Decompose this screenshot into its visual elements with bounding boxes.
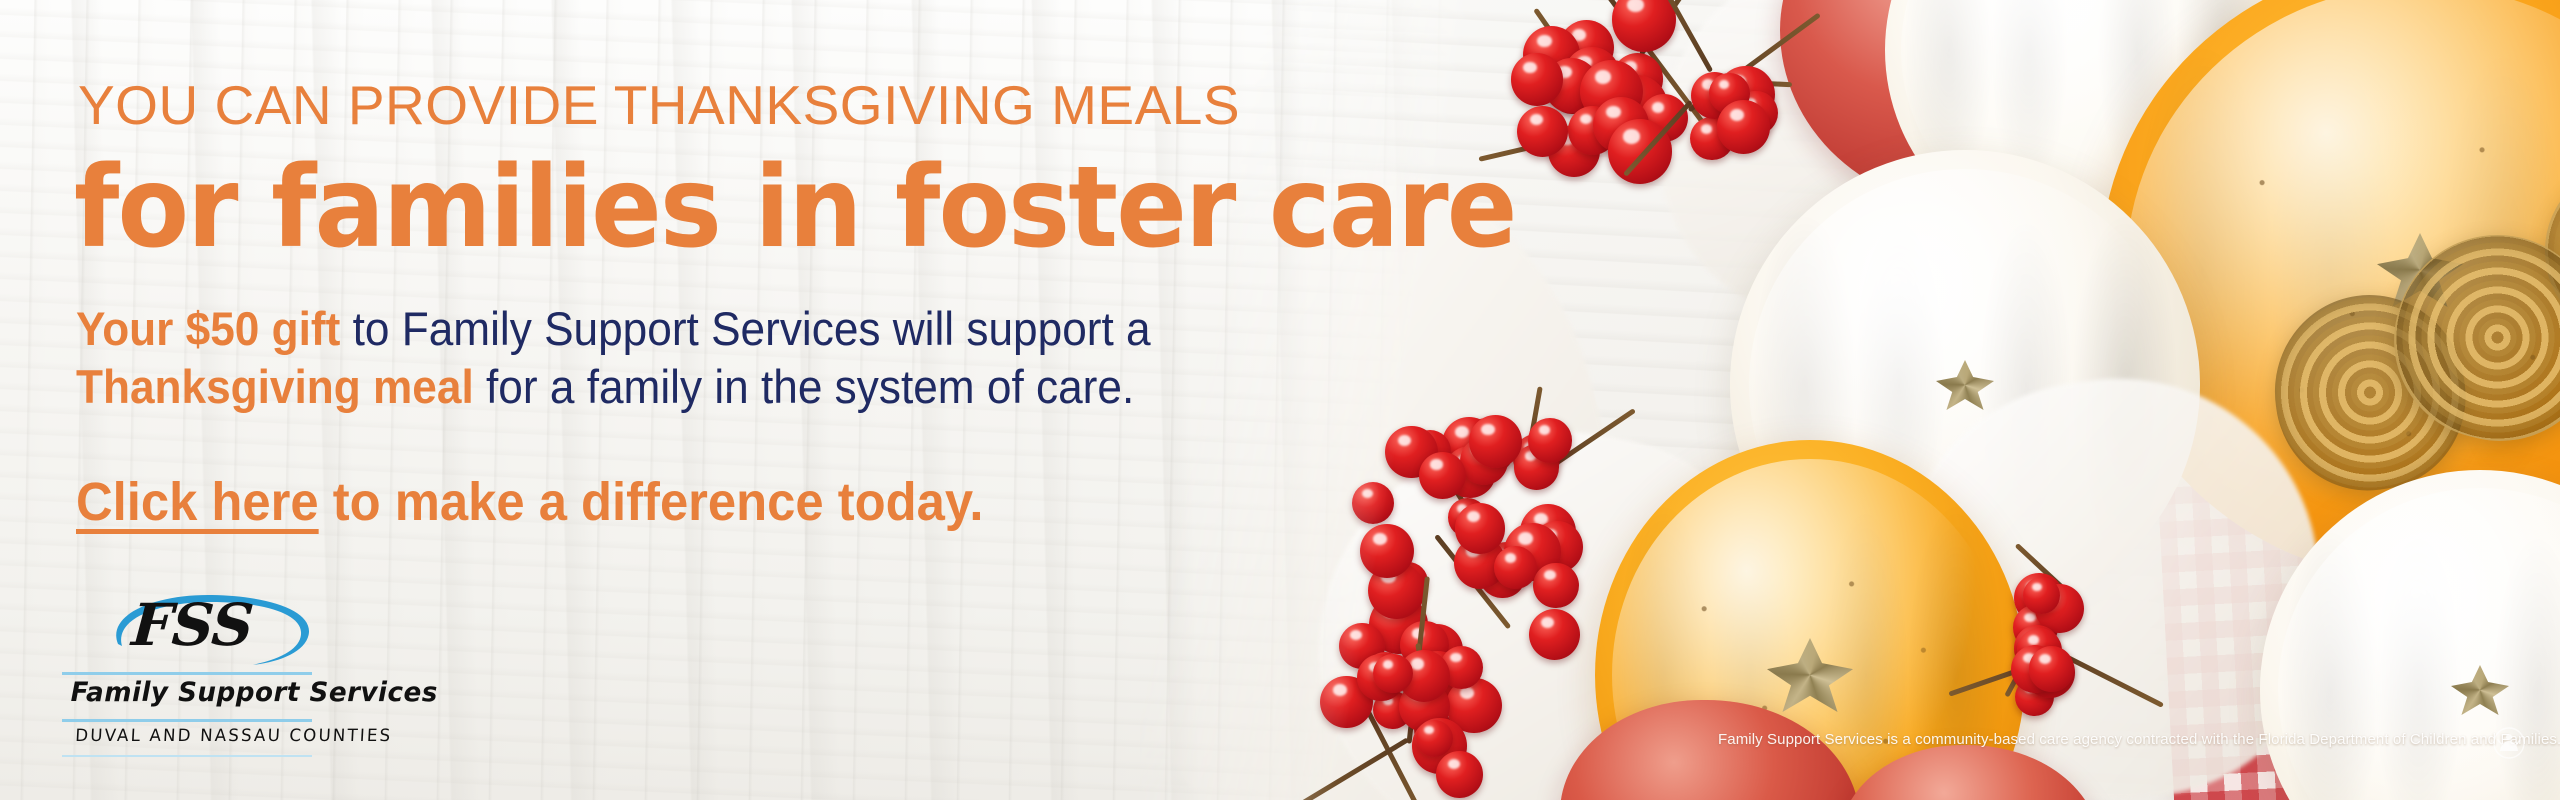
body-copy-text-1: to Family Support Services will support … — [340, 302, 1150, 355]
cta-rest-text: to make a difference today. — [319, 472, 984, 532]
logo-divider-bottom — [62, 755, 312, 757]
cta-line[interactable]: Click here to make a difference today. — [76, 475, 983, 529]
logo-mark-text: FSS — [130, 596, 255, 654]
banner-text-content: YOU CAN PROVIDE THANKSGIVING MEALS for f… — [0, 0, 1620, 800]
body-copy: Your $50 gift to Family Support Services… — [76, 300, 1151, 417]
logo-divider-top — [62, 672, 312, 675]
gift-amount-highlight: Your $50 gift — [76, 302, 340, 355]
logo-counties-subtitle: DUVAL AND NASSAU COUNTIES — [75, 726, 393, 746]
red-berry — [2029, 646, 2074, 691]
thanksgiving-donation-banner[interactable]: YOU CAN PROVIDE THANKSGIVING MEALS for f… — [0, 0, 2560, 800]
logo-divider-middle — [62, 719, 312, 722]
body-copy-text-2: for a family in the system of care. — [474, 360, 1134, 413]
dcf-seal-icon — [2492, 726, 2526, 760]
meal-highlight: Thanksgiving meal — [76, 360, 474, 413]
click-here-link[interactable]: Click here — [76, 472, 319, 532]
red-berry — [1717, 100, 1770, 153]
kicker-headline: YOU CAN PROVIDE THANKSGIVING MEALS — [78, 78, 1240, 133]
body-copy-line-1: Your $50 gift to Family Support Services… — [76, 300, 1151, 358]
body-copy-line-2: Thanksgiving meal for a family in the sy… — [76, 358, 1151, 416]
disclaimer-fineprint: Family Support Services is a community-b… — [1718, 731, 2560, 749]
fss-logo[interactable]: FSS Family Support Services DUVAL AND NA… — [62, 590, 312, 750]
logo-organization-name: Family Support Services — [71, 677, 438, 708]
main-headline: for families in foster care — [74, 152, 1516, 264]
